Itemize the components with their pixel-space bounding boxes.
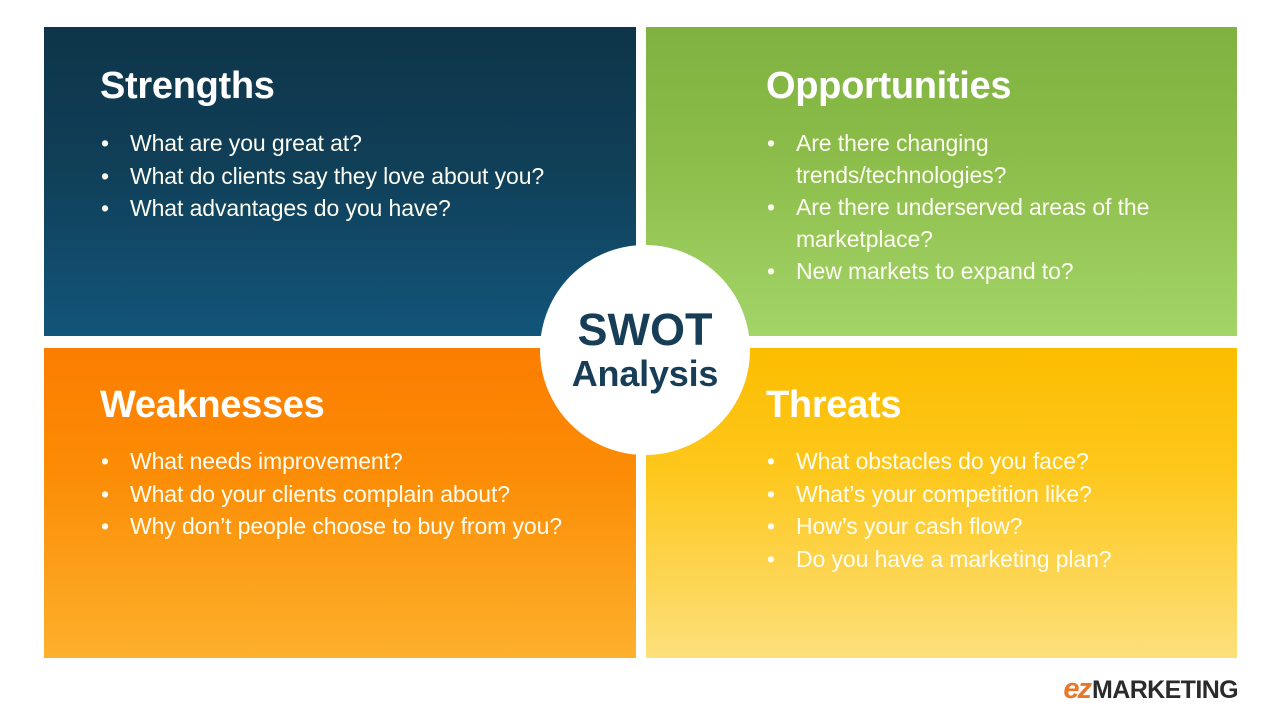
list-item-text: What are you great at? xyxy=(130,130,362,156)
list-item: • What advantages do you have? xyxy=(96,193,546,225)
list-item: • Why don’t people choose to buy from yo… xyxy=(96,511,566,543)
quadrant-opportunities-title: Opportunities xyxy=(766,67,1011,105)
list-item: • Are there underserved areas of the mar… xyxy=(762,192,1192,255)
list-item-text: What obstacles do you face? xyxy=(796,448,1089,474)
bullet-icon: • xyxy=(767,128,775,160)
quadrant-threats-list: • What obstacles do you face? • What’s y… xyxy=(762,446,1202,576)
quadrant-weaknesses-title: Weaknesses xyxy=(100,386,324,424)
list-item-text: New markets to expand to? xyxy=(796,258,1073,284)
list-item: • What are you great at? xyxy=(96,128,546,160)
quadrant-weaknesses-list: • What needs improvement? • What do your… xyxy=(96,446,566,544)
list-item: • Are there changing trends/technologies… xyxy=(762,128,1192,191)
bullet-icon: • xyxy=(101,479,109,511)
swot-title-line1: SWOT xyxy=(578,307,713,353)
list-item-text: Are there changing trends/technologies? xyxy=(796,130,1006,188)
quadrant-strengths-list: • What are you great at? • What do clien… xyxy=(96,128,546,226)
bullet-icon: • xyxy=(101,161,109,193)
ez-marketing-logo: ez MARKETING xyxy=(1063,675,1238,704)
list-item: • What do clients say they love about yo… xyxy=(96,161,546,193)
bullet-icon: • xyxy=(767,256,775,288)
list-item-text: What advantages do you have? xyxy=(130,195,451,221)
list-item-text: What do clients say they love about you? xyxy=(130,163,544,189)
list-item: • What’s your competition like? xyxy=(762,479,1202,511)
list-item: • New markets to expand to? xyxy=(762,256,1192,288)
list-item-text: What do your clients complain about? xyxy=(130,481,510,507)
bullet-icon: • xyxy=(101,128,109,160)
quadrant-opportunities-list: • Are there changing trends/technologies… xyxy=(762,128,1192,289)
list-item-text: What needs improvement? xyxy=(130,448,403,474)
list-item-text: Do you have a marketing plan? xyxy=(796,546,1111,572)
quadrant-threats-title: Threats xyxy=(766,386,901,424)
bullet-icon: • xyxy=(101,193,109,225)
swot-analysis-slide: Strengths • What are you great at? • Wha… xyxy=(0,0,1280,720)
bullet-icon: • xyxy=(767,544,775,576)
bullet-icon: • xyxy=(767,446,775,478)
logo-ez-mark: ez xyxy=(1063,675,1090,704)
bullet-icon: • xyxy=(767,192,775,224)
list-item-text: What’s your competition like? xyxy=(796,481,1092,507)
list-item: • What do your clients complain about? xyxy=(96,479,566,511)
bullet-icon: • xyxy=(767,479,775,511)
list-item-text: Are there underserved areas of the marke… xyxy=(796,194,1149,252)
list-item: • How’s your cash flow? xyxy=(762,511,1202,543)
list-item-text: How’s your cash flow? xyxy=(796,513,1022,539)
quadrant-opportunities: Opportunities • Are there changing trend… xyxy=(646,27,1237,336)
list-item: • What obstacles do you face? xyxy=(762,446,1202,478)
list-item: • What needs improvement? xyxy=(96,446,566,478)
quadrant-strengths-title: Strengths xyxy=(100,67,275,105)
quadrant-strengths: Strengths • What are you great at? • Wha… xyxy=(44,27,636,336)
swot-title-line2: Analysis xyxy=(572,355,718,393)
bullet-icon: • xyxy=(101,446,109,478)
logo-marketing-word: MARKETING xyxy=(1092,678,1238,703)
list-item: • Do you have a marketing plan? xyxy=(762,544,1202,576)
bullet-icon: • xyxy=(767,511,775,543)
bullet-icon: • xyxy=(101,511,109,543)
swot-center-circle: SWOT Analysis xyxy=(540,245,750,455)
list-item-text: Why don’t people choose to buy from you? xyxy=(130,513,562,539)
quadrant-weaknesses: Weaknesses • What needs improvement? • W… xyxy=(44,348,636,658)
